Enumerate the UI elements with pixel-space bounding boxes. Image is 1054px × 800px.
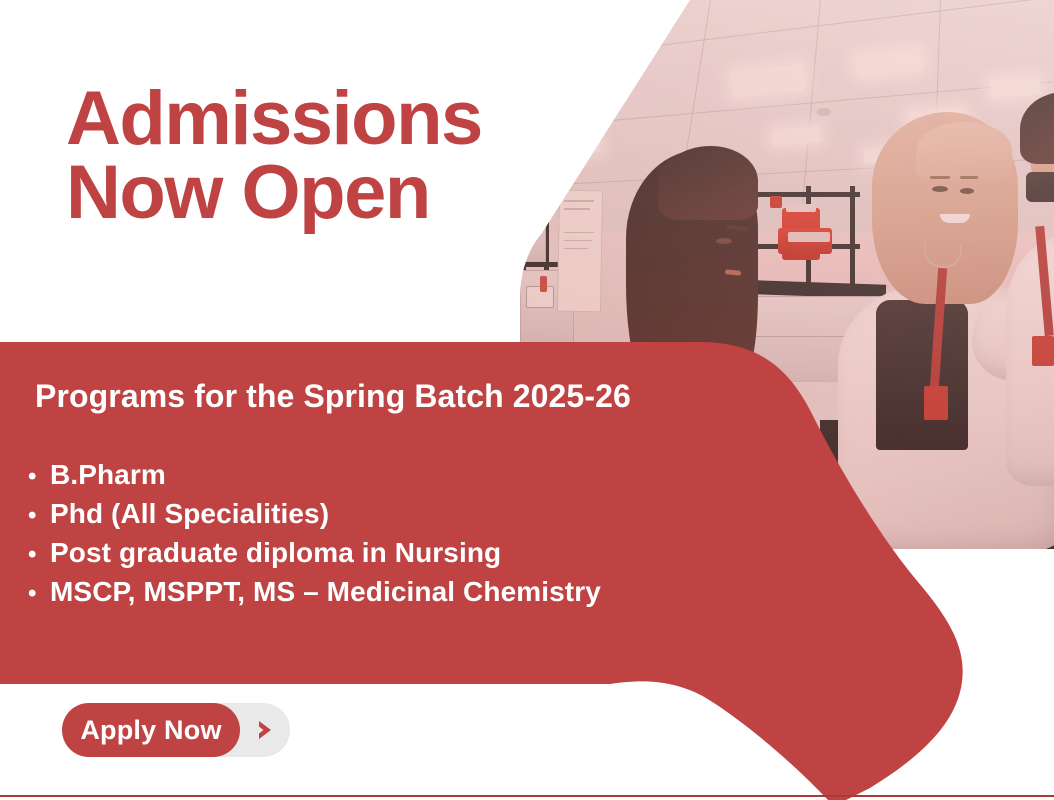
notice-line <box>564 240 592 241</box>
bullet-icon: • <box>28 536 50 573</box>
ceiling-light <box>989 76 1040 97</box>
program-label: B.Pharm <box>50 456 166 493</box>
list-item: • B.Pharm <box>28 456 601 495</box>
bullet-icon: • <box>28 458 50 495</box>
eyebrow <box>930 176 950 179</box>
bullet-icon: • <box>28 497 50 534</box>
list-item: • Phd (All Specialities) <box>28 495 601 534</box>
id-badge <box>924 386 948 420</box>
chevron-right-icon[interactable] <box>240 717 290 743</box>
program-label: MSCP, MSPPT, MS – Medicinal Chemistry <box>50 573 601 610</box>
list-item: • MSCP, MSPPT, MS – Medicinal Chemistry <box>28 573 601 612</box>
hair-top <box>658 146 758 220</box>
list-item: • Post graduate diploma in Nursing <box>28 534 601 573</box>
turtleneck <box>876 300 968 450</box>
red-switch <box>540 276 547 292</box>
id-badge <box>670 430 692 460</box>
id-badge <box>1032 336 1054 366</box>
bullet-icon: • <box>28 575 50 612</box>
page-title: Admissions Now Open <box>66 82 586 229</box>
beard <box>1026 172 1054 202</box>
eye <box>960 188 974 194</box>
apply-now-cta[interactable]: Apply Now <box>62 703 290 757</box>
program-label: Phd (All Specialities) <box>50 495 329 532</box>
program-label: Post graduate diploma in Nursing <box>50 534 501 571</box>
red-marker <box>770 196 782 208</box>
notice-line <box>564 232 594 233</box>
hair-top <box>916 122 1012 180</box>
program-list: • B.Pharm • Phd (All Specialities) • Pos… <box>28 456 601 612</box>
bin-label <box>788 232 830 242</box>
apply-now-button[interactable]: Apply Now <box>62 703 240 757</box>
smile <box>940 214 970 223</box>
bottom-divider <box>0 795 1054 797</box>
bench-post <box>850 186 855 286</box>
panel-heading: Programs for the Spring Batch 2025-26 <box>35 378 631 415</box>
notice-line <box>564 248 588 249</box>
eyebrow <box>960 176 978 179</box>
admissions-banner: Admissions Now Open Programs for the Spr… <box>0 0 1054 800</box>
eye <box>932 186 948 192</box>
eye <box>716 238 732 244</box>
sharps-bin-lid <box>786 204 816 212</box>
smoke-detector <box>817 108 831 116</box>
